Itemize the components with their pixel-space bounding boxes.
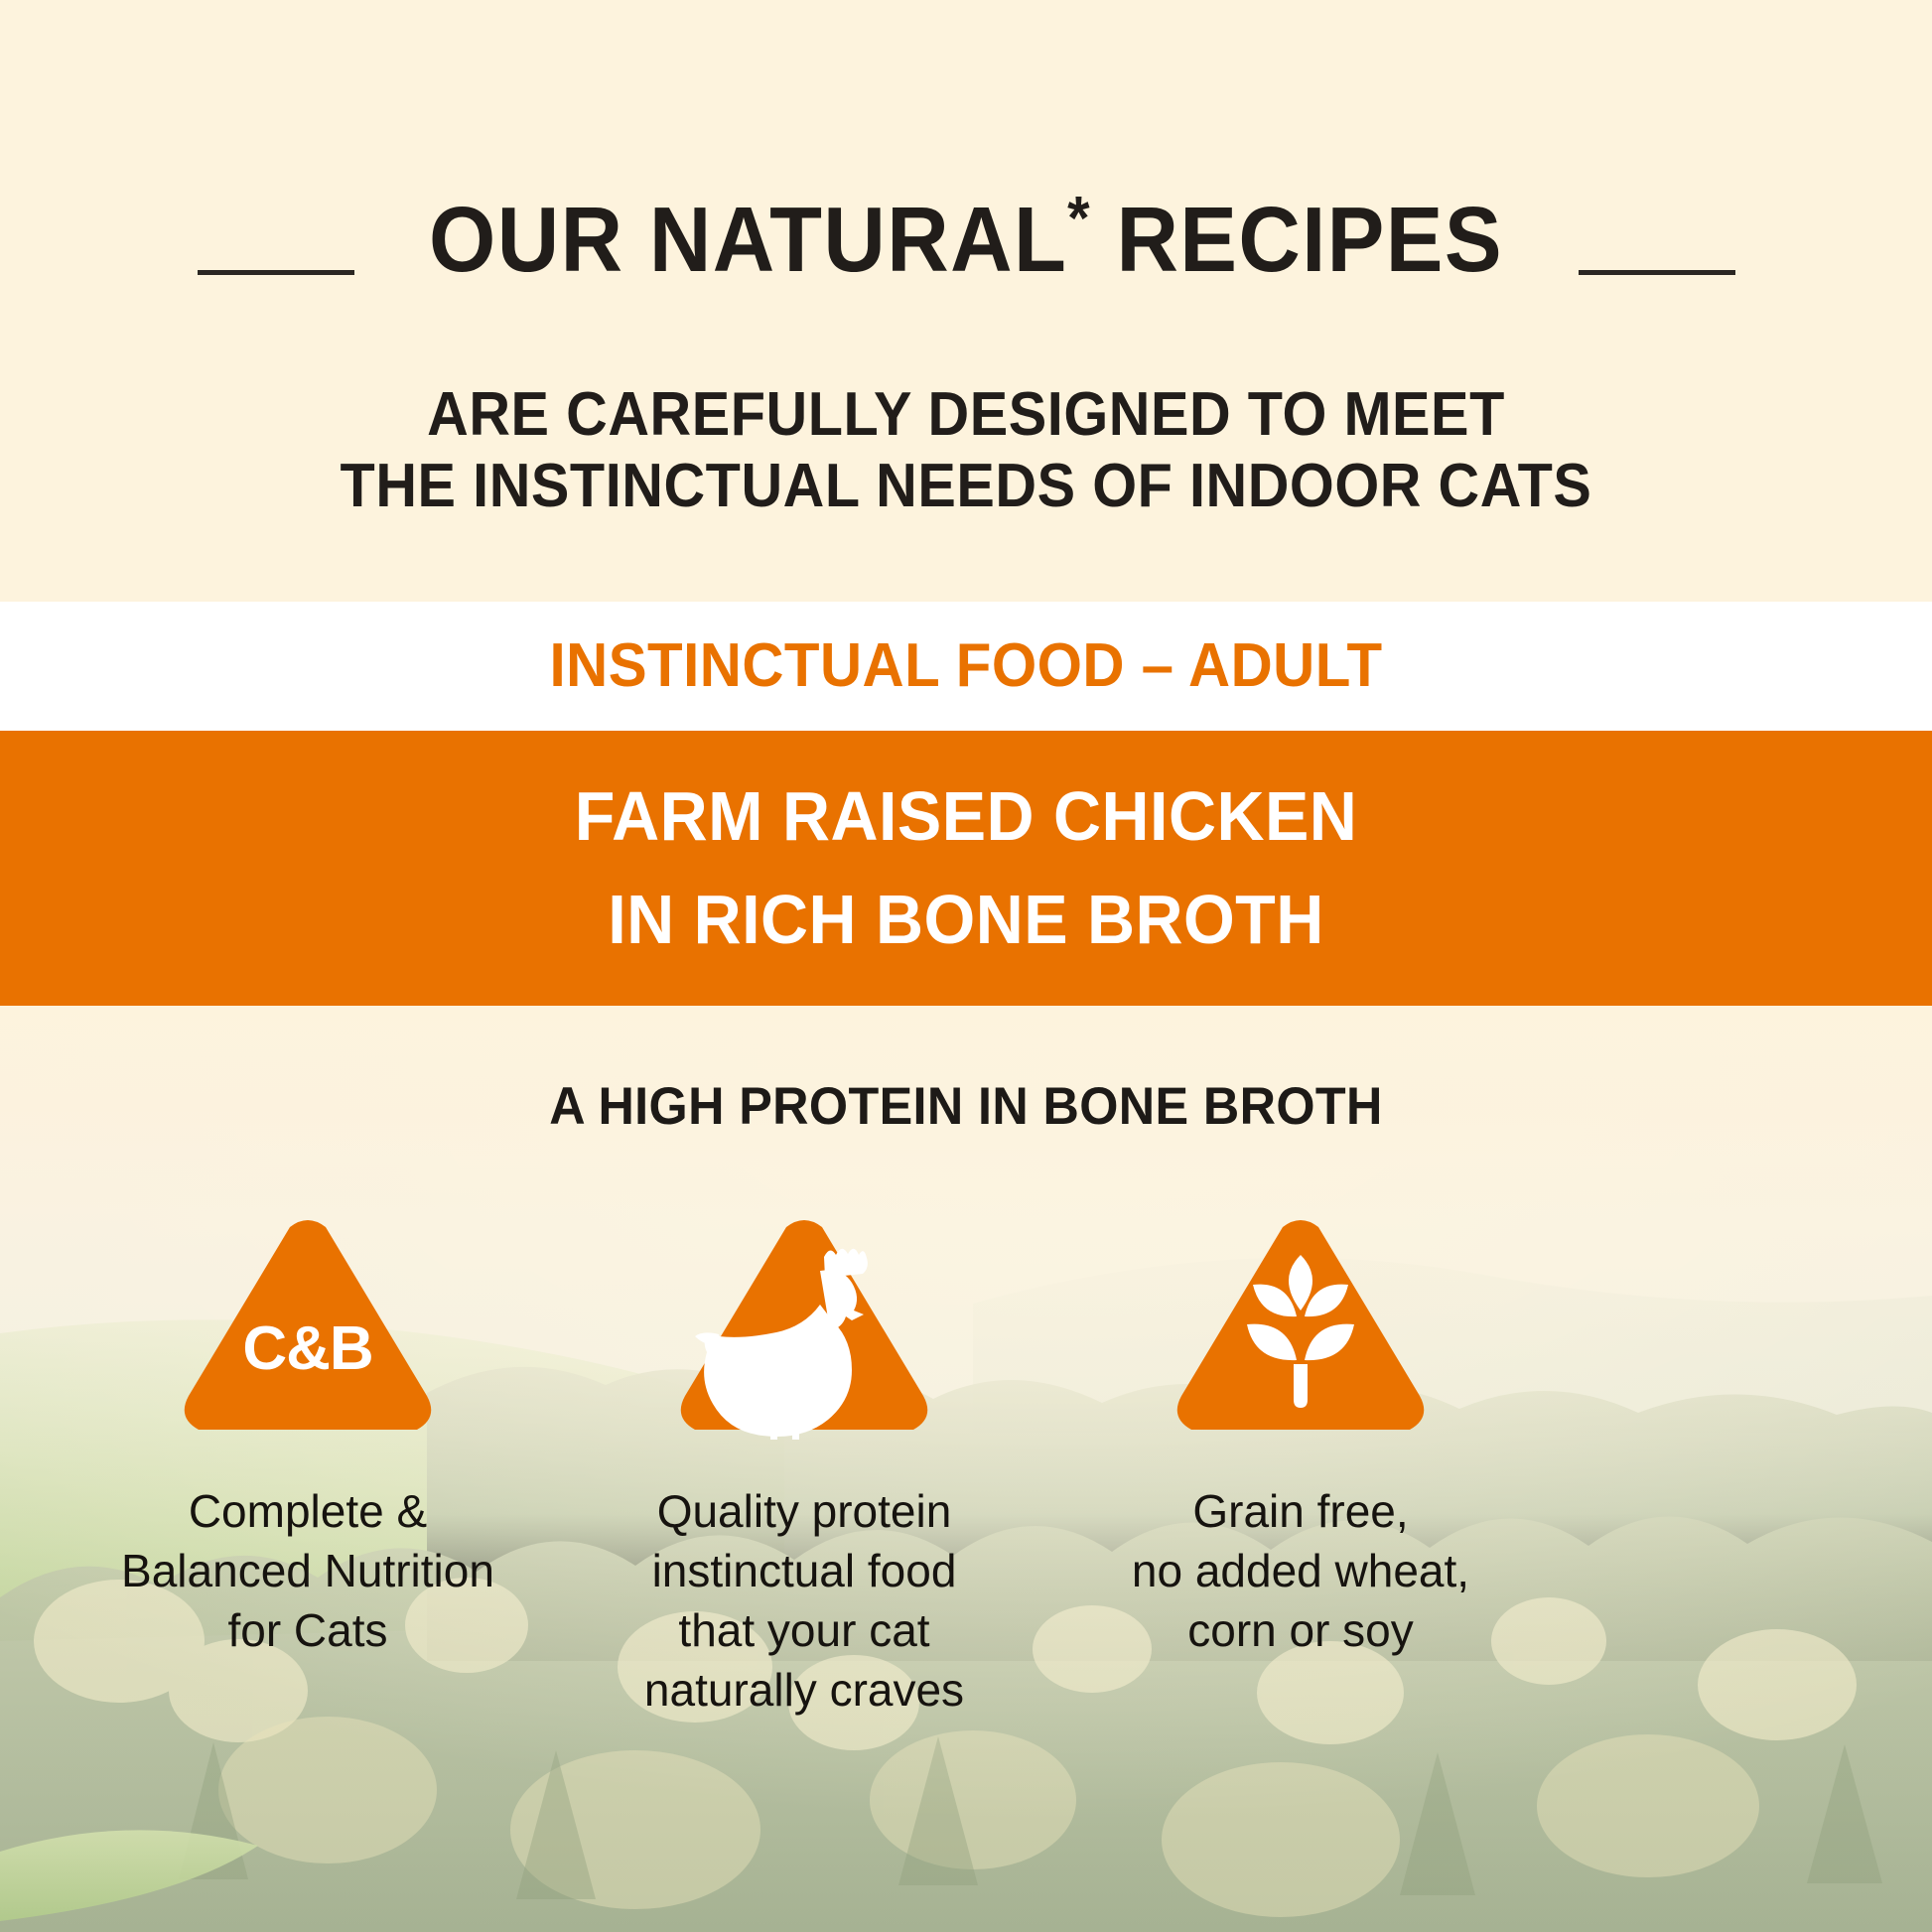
complete-balanced-badge: C&B	[179, 1213, 437, 1440]
feature-grain-free: Grain free, no added wheat, corn or soy	[1042, 1213, 1559, 1660]
feature-quality-protein-caption: Quality protein instinctual food that yo…	[546, 1481, 1062, 1720]
caption-line: for Cats	[50, 1600, 566, 1660]
header-subhead-line2: THE INSTINCTUAL NEEDS OF INDOOR CATS	[68, 451, 1864, 522]
caption-line: corn or soy	[1042, 1600, 1559, 1660]
product-name-line2: IN RICH BONE BROTH	[49, 868, 1884, 971]
grain-free-badge	[1172, 1213, 1430, 1440]
chicken-badge	[675, 1213, 933, 1440]
feature-complete-balanced-caption: Complete & Balanced Nutrition for Cats	[50, 1481, 566, 1660]
wheat-icon	[1172, 1213, 1430, 1440]
page-title-prefix: OUR NATURAL	[429, 188, 1067, 291]
headline-row: OUR NATURAL* RECIPES	[0, 185, 1932, 294]
product-info-panel: OUR NATURAL* RECIPES ARE CAREFULLY DESIG…	[0, 0, 1932, 1932]
feature-complete-balanced: C&B Complete & Balanced Nutrition for Ca…	[50, 1213, 566, 1660]
strapline: A HIGH PROTEIN IN BONE BROTH	[49, 1076, 1884, 1138]
product-name-line1: FARM RAISED CHICKEN	[49, 764, 1884, 868]
asterisk-icon: *	[1067, 185, 1091, 253]
header-subhead: ARE CAREFULLY DESIGNED TO MEET THE INSTI…	[68, 379, 1864, 522]
chicken-icon	[675, 1213, 933, 1440]
range-band-label: INSTINCTUAL FOOD – ADULT	[58, 623, 1873, 709]
feature-grain-free-caption: Grain free, no added wheat, corn or soy	[1042, 1481, 1559, 1660]
caption-line: naturally craves	[546, 1660, 1062, 1720]
caption-line: Grain free,	[1042, 1481, 1559, 1541]
page-title: OUR NATURAL* RECIPES	[68, 185, 1864, 294]
header-subhead-line1: ARE CAREFULLY DESIGNED TO MEET	[68, 379, 1864, 451]
feature-list: C&B Complete & Balanced Nutrition for Ca…	[0, 1213, 1932, 1829]
caption-line: that your cat	[546, 1600, 1062, 1660]
caption-line: Quality protein	[546, 1481, 1062, 1541]
caption-line: no added wheat,	[1042, 1541, 1559, 1600]
feature-quality-protein: Quality protein instinctual food that yo…	[546, 1213, 1062, 1720]
page-title-suffix: RECIPES	[1091, 188, 1503, 291]
range-band: INSTINCTUAL FOOD – ADULT	[0, 602, 1932, 731]
product-name: FARM RAISED CHICKEN IN RICH BONE BROTH	[49, 764, 1884, 971]
header-panel: OUR NATURAL* RECIPES ARE CAREFULLY DESIG…	[0, 0, 1932, 602]
product-name-band: FARM RAISED CHICKEN IN RICH BONE BROTH	[0, 731, 1932, 1006]
caption-line: Complete &	[50, 1481, 566, 1541]
complete-balanced-badge-label: C&B	[179, 1318, 437, 1380]
caption-line: instinctual food	[546, 1541, 1062, 1600]
caption-line: Balanced Nutrition	[50, 1541, 566, 1600]
